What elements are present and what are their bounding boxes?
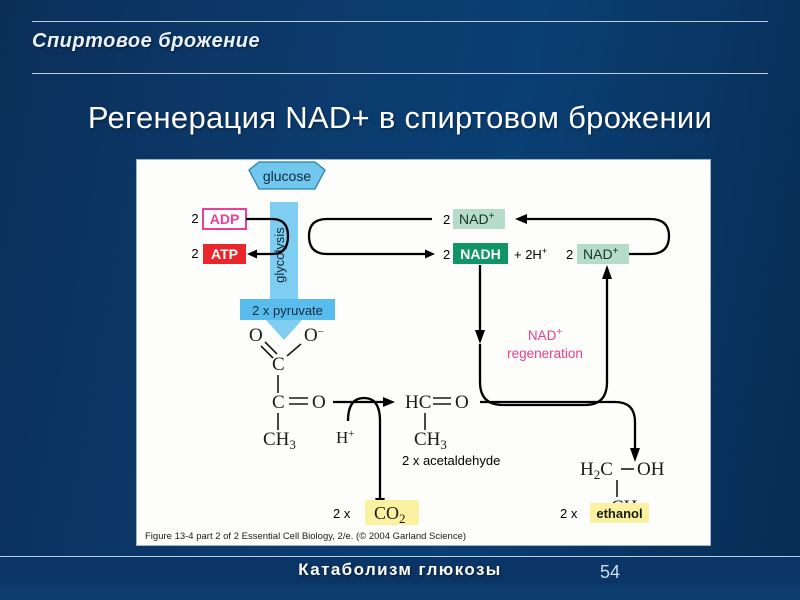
proton-co2-curve	[348, 398, 380, 500]
figure-caption: Figure 13-4 part 2 of 2 Essential Cell B…	[145, 531, 466, 542]
acetaldehyde-hc: HC	[405, 392, 431, 413]
ethanol-label: ethanol	[596, 506, 642, 521]
pyruvate-o-right: O	[312, 392, 326, 413]
nad-regeneration-arrowhead	[602, 265, 612, 279]
pyruvate-c-top: C	[272, 354, 285, 375]
ethanol-count: 2 x	[560, 506, 578, 521]
nadh-label: NADH	[460, 246, 500, 262]
decarboxylation-arrowhead	[383, 397, 395, 407]
pyruvate-o-double: O	[249, 325, 263, 346]
pyruvate-structure: O O– C C O CH3	[249, 325, 326, 452]
adp-label: ADP	[210, 211, 240, 227]
acetaldehyde-o: O	[455, 392, 469, 413]
pyruvate-c-mid: C	[272, 392, 285, 413]
nad-return-arrowhead	[515, 214, 527, 224]
proton-label: H+	[336, 428, 355, 447]
nad-regeneration-label-line1: NAD+	[528, 327, 563, 343]
nad-coupling-arrowhead	[425, 250, 435, 259]
atp-count: 2	[191, 246, 198, 261]
ethanol-branch	[615, 402, 635, 450]
acetaldehyde-label: 2 x acetaldehyde	[402, 453, 500, 468]
acetaldehyde-ch3: CH3	[414, 429, 447, 452]
nadh-proton-label: + 2H+	[514, 246, 547, 262]
header-rule-top	[32, 21, 768, 22]
footer-title: Катаболизм глюкозы	[0, 560, 800, 580]
nadplus-right-count: 2	[566, 247, 573, 262]
pyruvate-ch3: CH3	[263, 429, 296, 452]
pyruvate-o-minus: O–	[304, 325, 324, 346]
pyruvate-label: 2 x pyruvate	[252, 303, 323, 318]
acetaldehyde-structure: HC O CH3	[405, 392, 469, 452]
adp-atp-arrowhead	[247, 250, 257, 259]
page-title: Регенерация NAD+ в спиртовом брожении	[0, 100, 800, 136]
nad-coupling-arrow	[309, 219, 432, 254]
header-rule-bottom	[32, 73, 768, 74]
nadplus-top-count: 2	[443, 212, 450, 227]
co2-count: 2 x	[333, 506, 351, 521]
figure-panel: glycolysis glucose 2 ADP 2 ATP 2 NAD	[137, 160, 710, 545]
atp-label: ATP	[211, 246, 238, 262]
nad-regeneration-label-line2: regeneration	[507, 346, 583, 361]
ethanol-h2c: H2C	[580, 459, 613, 482]
nadh-count: 2	[443, 247, 450, 262]
ethanol-oh: OH	[637, 459, 665, 480]
adp-count: 2	[191, 211, 198, 226]
glucose-label: glucose	[263, 168, 311, 184]
footer-strip	[0, 585, 800, 600]
nadh-down-arrowhead	[475, 330, 485, 344]
page-number: 54	[600, 562, 620, 583]
fermentation-pathway-diagram: glycolysis glucose 2 ADP 2 ATP 2 NAD	[137, 160, 710, 545]
slide-background: Спиртовое брожение Регенерация NAD+ в сп…	[0, 0, 800, 600]
header-title: Спиртовое брожение	[32, 30, 260, 53]
